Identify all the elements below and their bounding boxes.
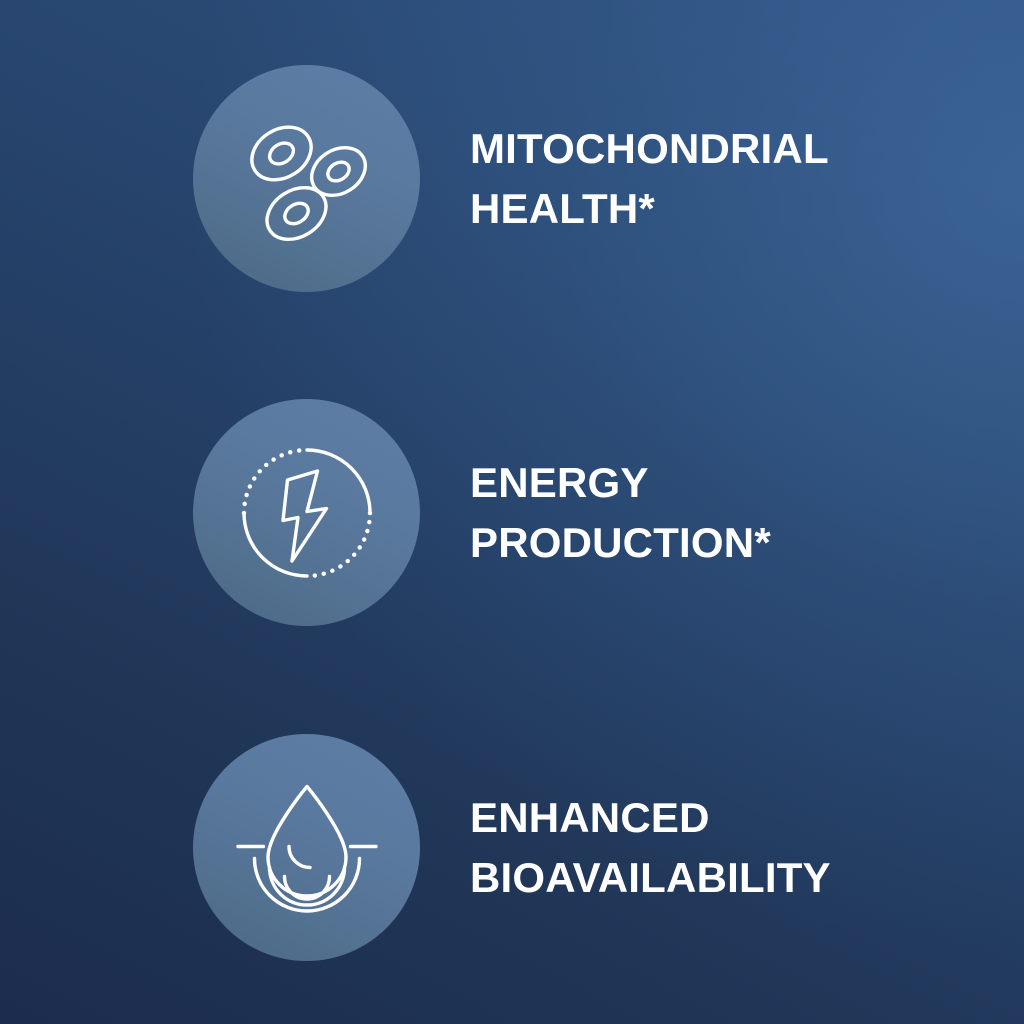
feature-label-energy-production: ENERGY PRODUCTION* <box>470 453 771 573</box>
feature-row-energy-production: ENERGY PRODUCTION* <box>0 399 1024 626</box>
icon-badge-enhanced-bioavailability <box>193 734 420 961</box>
benefits-poster: MITOCHONDRIAL HEALTH* ENERGY PRO <box>0 0 1024 1024</box>
feature-label-mitochondrial-health: MITOCHONDRIAL HEALTH* <box>470 119 829 239</box>
feature-row-mitochondrial-health: MITOCHONDRIAL HEALTH* <box>0 65 1024 292</box>
icon-badge-mitochondrial-health <box>193 65 420 292</box>
cells-icon <box>232 104 382 254</box>
water-droplet-icon <box>232 773 382 923</box>
icon-badge-energy-production <box>193 399 420 626</box>
feature-row-enhanced-bioavailability: ENHANCED BIOAVAILABILITY <box>0 734 1024 961</box>
feature-label-enhanced-bioavailability: ENHANCED BIOAVAILABILITY <box>470 788 831 908</box>
lightning-bolt-icon <box>232 438 382 588</box>
